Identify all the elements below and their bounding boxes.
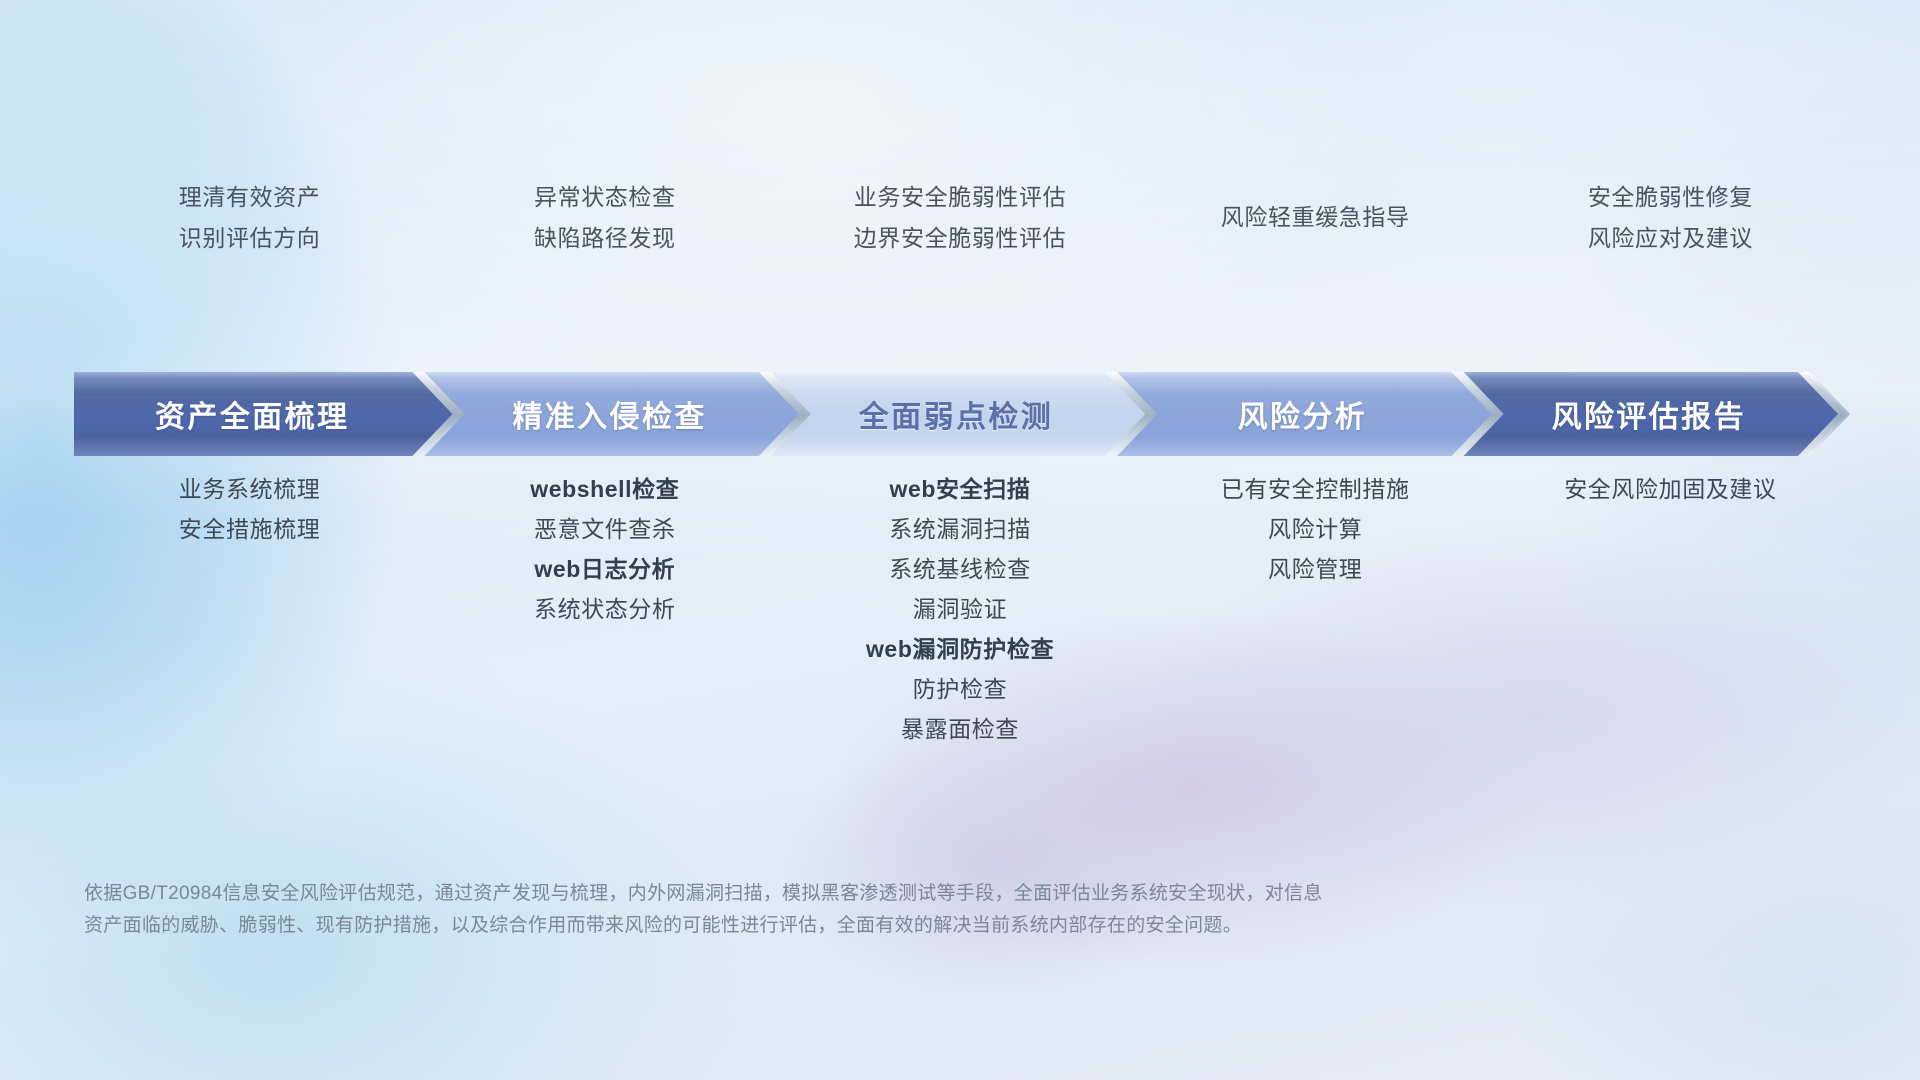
- stage-title: 资产全面梳理: [155, 392, 349, 436]
- stage-item: web安全扫描: [890, 474, 1031, 505]
- top-note: 理清有效资产: [179, 182, 321, 212]
- stage-item: 系统漏洞扫描: [889, 514, 1031, 545]
- top-note: 业务安全脆弱性评估: [854, 182, 1066, 212]
- top-notes-col-risk-analysis: 风险轻重缓急指导: [1138, 180, 1493, 290]
- stage-items-risk-analysis: 已有安全控制措施风险计算风险管理: [1138, 468, 1493, 708]
- stage-item: 风险计算: [1268, 514, 1362, 545]
- stage-item: webshell检查: [530, 474, 679, 505]
- stage-item: 暴露面检查: [901, 714, 1019, 745]
- stage-item: 恶意文件查杀: [534, 514, 676, 545]
- stage-item: 漏洞验证: [913, 594, 1007, 625]
- stage-item: 安全风险加固及建议: [1564, 474, 1776, 505]
- stage-item: 业务系统梳理: [179, 474, 321, 505]
- stage-item: 风险管理: [1268, 554, 1362, 585]
- top-note: 风险轻重缓急指导: [1221, 202, 1410, 232]
- stage-title: 全面弱点检测: [859, 392, 1053, 436]
- stage-items-asset-inventory: 业务系统梳理安全措施梳理: [72, 468, 427, 708]
- stage-items-assessment-report: 安全风险加固及建议: [1493, 468, 1848, 708]
- stage-item: 系统基线检查: [889, 554, 1031, 585]
- top-notes-col-assessment-report: 安全脆弱性修复风险应对及建议: [1493, 180, 1848, 290]
- stage-title: 精准入侵检查: [512, 392, 706, 436]
- stage-item: 已有安全控制措施: [1221, 474, 1410, 505]
- process-stage-risk-analysis[interactable]: 风险分析: [1113, 372, 1499, 456]
- process-stage-asset-inventory[interactable]: 资产全面梳理: [74, 372, 460, 456]
- diagram-content: 理清有效资产识别评估方向异常状态检查缺陷路径发现业务安全脆弱性评估边界安全脆弱性…: [0, 0, 1920, 1080]
- top-note: 识别评估方向: [179, 223, 321, 253]
- stage-items-weakness-detection: web安全扫描系统漏洞扫描系统基线检查漏洞验证web漏洞防护检查防护检查暴露面检…: [782, 468, 1137, 708]
- footer-line-2: 资产面临的威胁、脆弱性、现有防护措施，以及综合作用而带来风险的可能性进行评估，全…: [84, 910, 1624, 942]
- stage-item: 防护检查: [913, 674, 1007, 705]
- process-arrow-banner: 资产全面梳理精准入侵检查全面弱点检测风险分析风险评估报告: [74, 372, 1846, 456]
- top-note: 风险应对及建议: [1588, 223, 1753, 253]
- top-note: 边界安全脆弱性评估: [854, 223, 1066, 253]
- stage-item: 系统状态分析: [534, 594, 676, 625]
- process-stage-weakness-detection[interactable]: 全面弱点检测: [767, 372, 1153, 456]
- stage-title: 风险分析: [1238, 392, 1368, 436]
- top-notes-col-asset-inventory: 理清有效资产识别评估方向: [72, 180, 427, 290]
- stage-detail-lists: 业务系统梳理安全措施梳理webshell检查恶意文件查杀web日志分析系统状态分…: [72, 468, 1848, 708]
- stage-title: 风险评估报告: [1552, 392, 1746, 436]
- slide-canvas: 理清有效资产识别评估方向异常状态检查缺陷路径发现业务安全脆弱性评估边界安全脆弱性…: [0, 0, 1920, 1080]
- top-notes-col-weakness-detection: 业务安全脆弱性评估边界安全脆弱性评估: [782, 180, 1137, 290]
- stage-item: web日志分析: [534, 554, 675, 585]
- process-stage-assessment-report[interactable]: 风险评估报告: [1460, 372, 1846, 456]
- stage-item: 安全措施梳理: [179, 514, 321, 545]
- footer-description: 依据GB/T20984信息安全风险评估规范，通过资产发现与梳理，内外网漏洞扫描，…: [84, 878, 1624, 942]
- footer-line-1: 依据GB/T20984信息安全风险评估规范，通过资产发现与梳理，内外网漏洞扫描，…: [84, 878, 1624, 910]
- top-note: 安全脆弱性修复: [1588, 182, 1753, 212]
- top-note: 缺陷路径发现: [534, 223, 676, 253]
- stage-items-intrusion-inspection: webshell检查恶意文件查杀web日志分析系统状态分析: [427, 468, 782, 708]
- stage-item: web漏洞防护检查: [866, 634, 1054, 665]
- top-notes-col-intrusion-inspection: 异常状态检查缺陷路径发现: [427, 180, 782, 290]
- process-stage-intrusion-inspection[interactable]: 精准入侵检查: [420, 372, 806, 456]
- top-notes-row: 理清有效资产识别评估方向异常状态检查缺陷路径发现业务安全脆弱性评估边界安全脆弱性…: [72, 180, 1848, 290]
- top-note: 异常状态检查: [534, 182, 676, 212]
